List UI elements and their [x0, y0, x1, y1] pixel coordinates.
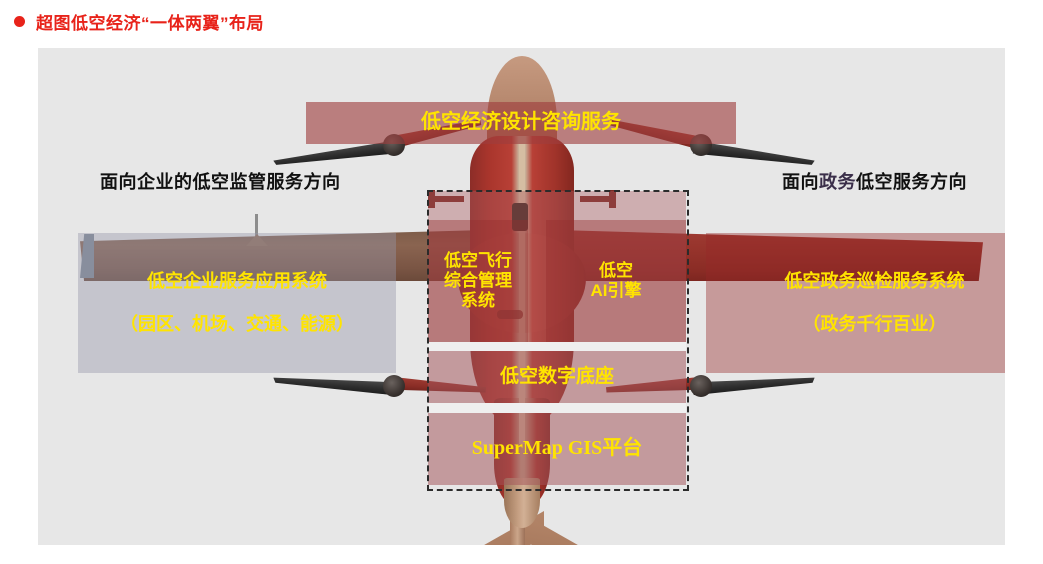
right-wing-system-line1: 低空政务巡检服务系统: [785, 271, 965, 292]
left-direction-label: 面向企业的低空监管服务方向: [100, 168, 341, 194]
service-band-consulting[interactable]: 低空经济设计咨询服务: [306, 102, 736, 144]
rotor-blade-top-left-outer: [273, 141, 396, 169]
right-direction-prefix: 面向: [782, 172, 819, 192]
supermap-gis-platform-band[interactable]: SuperMap GIS平台: [428, 413, 686, 485]
right-wing-system-label: 低空政务巡检服务系统 （政务千行百业）: [785, 250, 965, 356]
digital-base-band[interactable]: 低空数字底座: [428, 351, 686, 403]
right-direction-suffix: 低空服务方向: [856, 172, 967, 192]
left-wing-system-line2: （园区、机场、交通、能源）: [120, 314, 354, 335]
rotor-motor-bottom-right: [690, 375, 712, 397]
core-block-flight-management[interactable]: 低空飞行 综合管理 系统: [428, 220, 528, 342]
rotor-blade-bottom-left-outer: [273, 374, 396, 395]
left-wing-system-box[interactable]: 低空企业服务应用系统 （园区、机场、交通、能源）: [78, 233, 396, 373]
page-title: 超图低空经济“一体两翼”布局: [36, 9, 264, 34]
slide-title-row: 超图低空经济“一体两翼”布局: [14, 8, 264, 34]
right-wing-system-line2: （政务千行百业）: [785, 314, 965, 335]
right-direction-label: 面向政务低空服务方向: [782, 168, 967, 194]
left-wing-system-label: 低空企业服务应用系统 （园区、机场、交通、能源）: [120, 250, 354, 356]
architecture-diagram: 低空经济设计咨询服务 低空企业服务应用系统 （园区、机场、交通、能源） 低空政务…: [38, 48, 1005, 545]
right-direction-highlight: 政务: [819, 172, 856, 192]
rotor-motor-bottom-left: [383, 375, 405, 397]
stack-separator-1: [428, 342, 686, 351]
core-block-ai-engine[interactable]: 低空 AI引擎: [546, 220, 686, 342]
left-wing-system-line1: 低空企业服务应用系统: [120, 271, 354, 292]
stack-separator-2: [428, 403, 686, 413]
bullet-icon: [14, 16, 25, 27]
right-wing-system-box[interactable]: 低空政务巡检服务系统 （政务千行百业）: [706, 233, 1005, 373]
